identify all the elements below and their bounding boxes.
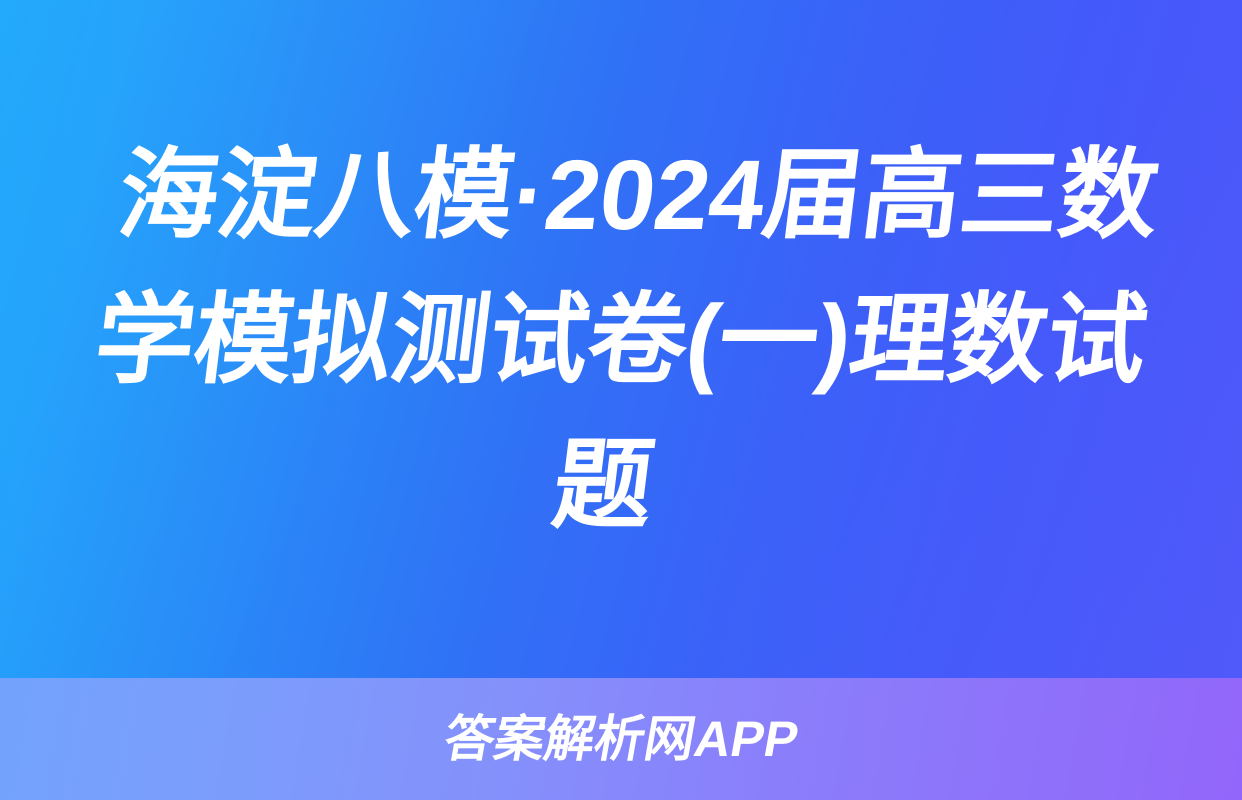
page-title: 海淀八模·2024届高三数学模拟测试卷(一)理数试题 bbox=[66, 122, 1175, 557]
hero-banner: 海淀八模·2024届高三数学模拟测试卷(一)理数试题 bbox=[0, 0, 1242, 678]
watermark-band: 答案解析网APP bbox=[0, 678, 1242, 800]
cover-card: 海淀八模·2024届高三数学模拟测试卷(一)理数试题 答案解析网APP bbox=[0, 0, 1242, 800]
app-watermark-label: 答案解析网APP bbox=[440, 714, 802, 764]
